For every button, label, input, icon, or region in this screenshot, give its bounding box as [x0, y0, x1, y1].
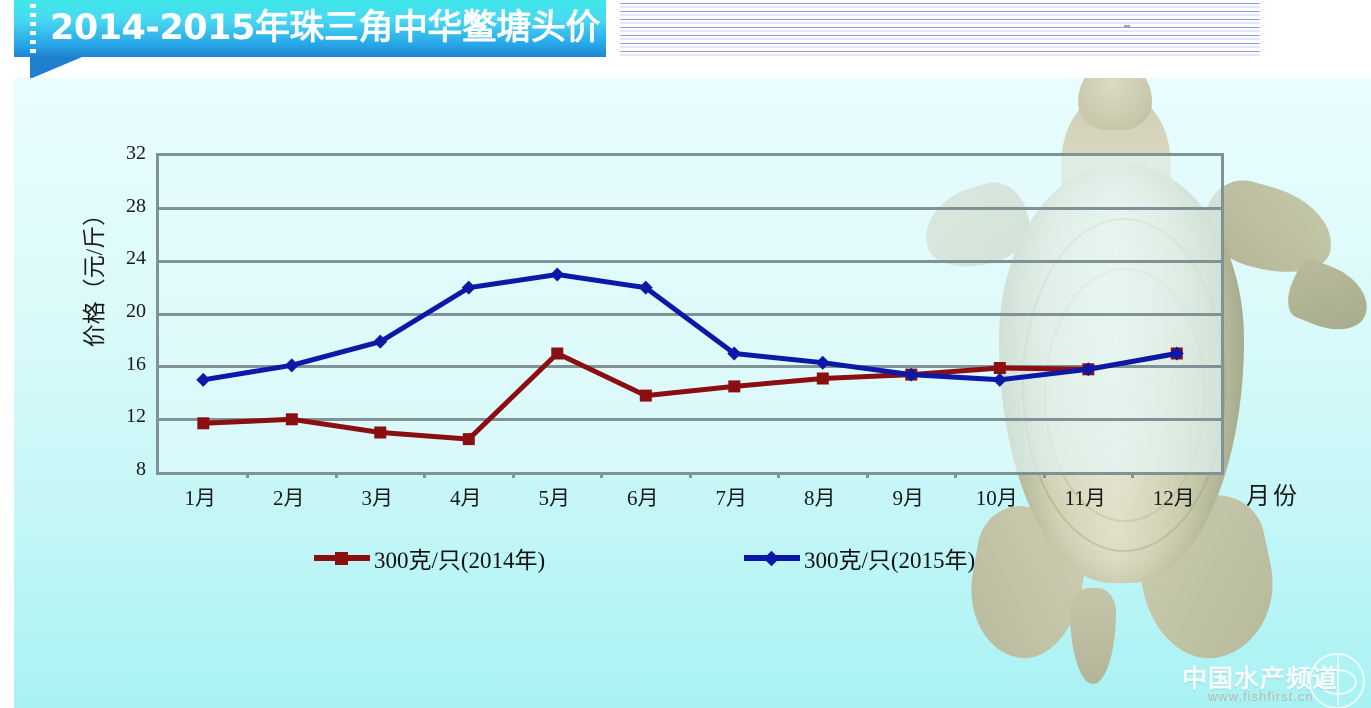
legend-label: 300克/只(2014年): [374, 541, 545, 575]
series-marker-diamond: [285, 358, 299, 372]
series-marker-square: [551, 348, 563, 360]
x-axis-tick-mark: [1131, 472, 1134, 478]
x-axis-title: 月份: [1246, 476, 1300, 511]
x-axis-tick-label: 12月: [1153, 482, 1195, 512]
legend-item[interactable]: 300克/只(2015年): [744, 540, 975, 576]
series-marker-diamond: [993, 373, 1007, 387]
series-marker-square: [728, 380, 740, 392]
y-axis-tick-label: 8: [106, 459, 146, 479]
legend-swatch-square: [314, 549, 370, 567]
x-axis-tick-mark: [423, 472, 426, 478]
x-axis-tick-label: 2月: [273, 482, 305, 512]
title-dots-decoration: [30, 4, 36, 54]
legend-swatch-diamond: [744, 549, 800, 567]
x-axis-tick-labels: 1月2月3月4月5月6月7月8月9月10月11月12月: [156, 482, 1224, 516]
series-marker-square: [994, 362, 1006, 374]
x-axis-tick-mark: [1043, 472, 1046, 478]
x-axis-tick-mark: [246, 472, 249, 478]
series-layer: [159, 156, 1221, 472]
series-marker-square: [640, 390, 652, 402]
x-axis-tick-label: 11月: [1065, 482, 1106, 512]
y-axis-tick-labels: 8121620242832: [102, 153, 146, 475]
plot-area: [156, 153, 1224, 475]
series-marker-square: [374, 427, 386, 439]
y-axis-tick-label: 32: [106, 143, 146, 163]
x-axis-tick-label: 10月: [976, 482, 1018, 512]
x-axis-tick-mark: [954, 472, 957, 478]
header-stripes-decoration: [620, 0, 1260, 58]
legend-marker: [764, 551, 780, 567]
series-marker-square: [197, 417, 209, 429]
x-axis-tick-label: 8月: [804, 482, 836, 512]
y-axis-tick-label: 16: [106, 354, 146, 374]
y-axis-tick-label: 20: [106, 301, 146, 321]
slide-page: 2014-2015年珠三角中华鳖塘头价 价格（元/斤） 812162024283…: [0, 0, 1371, 708]
x-axis-tick-label: 5月: [539, 482, 571, 512]
x-axis-tick-label: 1月: [185, 482, 217, 512]
x-axis-tick-mark: [866, 472, 869, 478]
header-band: 2014-2015年珠三角中华鳖塘头价: [0, 0, 1371, 80]
series-line-1: [203, 354, 1177, 440]
header-dot-decoration: [1124, 25, 1130, 27]
series-line-2: [203, 275, 1177, 380]
legend-item[interactable]: 300克/只(2014年): [314, 540, 545, 576]
x-axis-tick-mark: [335, 472, 338, 478]
x-axis-tick-mark: [777, 472, 780, 478]
series-marker-square: [817, 373, 829, 385]
x-axis-tick-label: 6月: [627, 482, 659, 512]
site-watermark: 中国水产频道 www.fishfirst.cn: [1182, 653, 1367, 708]
y-axis-tick-label: 28: [106, 196, 146, 216]
series-marker-diamond: [816, 356, 830, 370]
series-marker-square: [463, 433, 475, 445]
slide-body: 价格（元/斤） 8121620242832 1月2月3月4月5月6月7月8月9月…: [14, 78, 1371, 708]
x-axis-tick-mark: [689, 472, 692, 478]
legend-label: 300克/只(2015年): [804, 541, 975, 575]
chart-legend: 300克/只(2014年)300克/只(2015年): [314, 540, 1034, 580]
legend-marker: [335, 552, 348, 565]
watermark-url: www.fishfirst.cn: [1208, 689, 1314, 704]
x-axis-tick-mark: [512, 472, 515, 478]
x-axis-tick-label: 9月: [893, 482, 925, 512]
y-axis-tick-label: 12: [106, 406, 146, 426]
x-axis-tick-label: 7月: [716, 482, 748, 512]
price-line-chart: 价格（元/斤） 8121620242832 1月2月3月4月5月6月7月8月9月…: [14, 78, 1371, 708]
x-axis-tick-label: 4月: [450, 482, 482, 512]
series-marker-diamond: [196, 373, 210, 387]
title-banner: 2014-2015年珠三角中华鳖塘头价: [14, 0, 606, 57]
series-marker-square: [286, 413, 298, 425]
y-axis-tick-label: 24: [106, 248, 146, 268]
page-title: 2014-2015年珠三角中华鳖塘头价: [50, 2, 600, 55]
x-axis-tick-label: 3月: [362, 482, 394, 512]
title-banner-tail: [30, 57, 82, 79]
x-axis-tick-mark: [600, 472, 603, 478]
series-marker-diamond: [550, 268, 564, 282]
